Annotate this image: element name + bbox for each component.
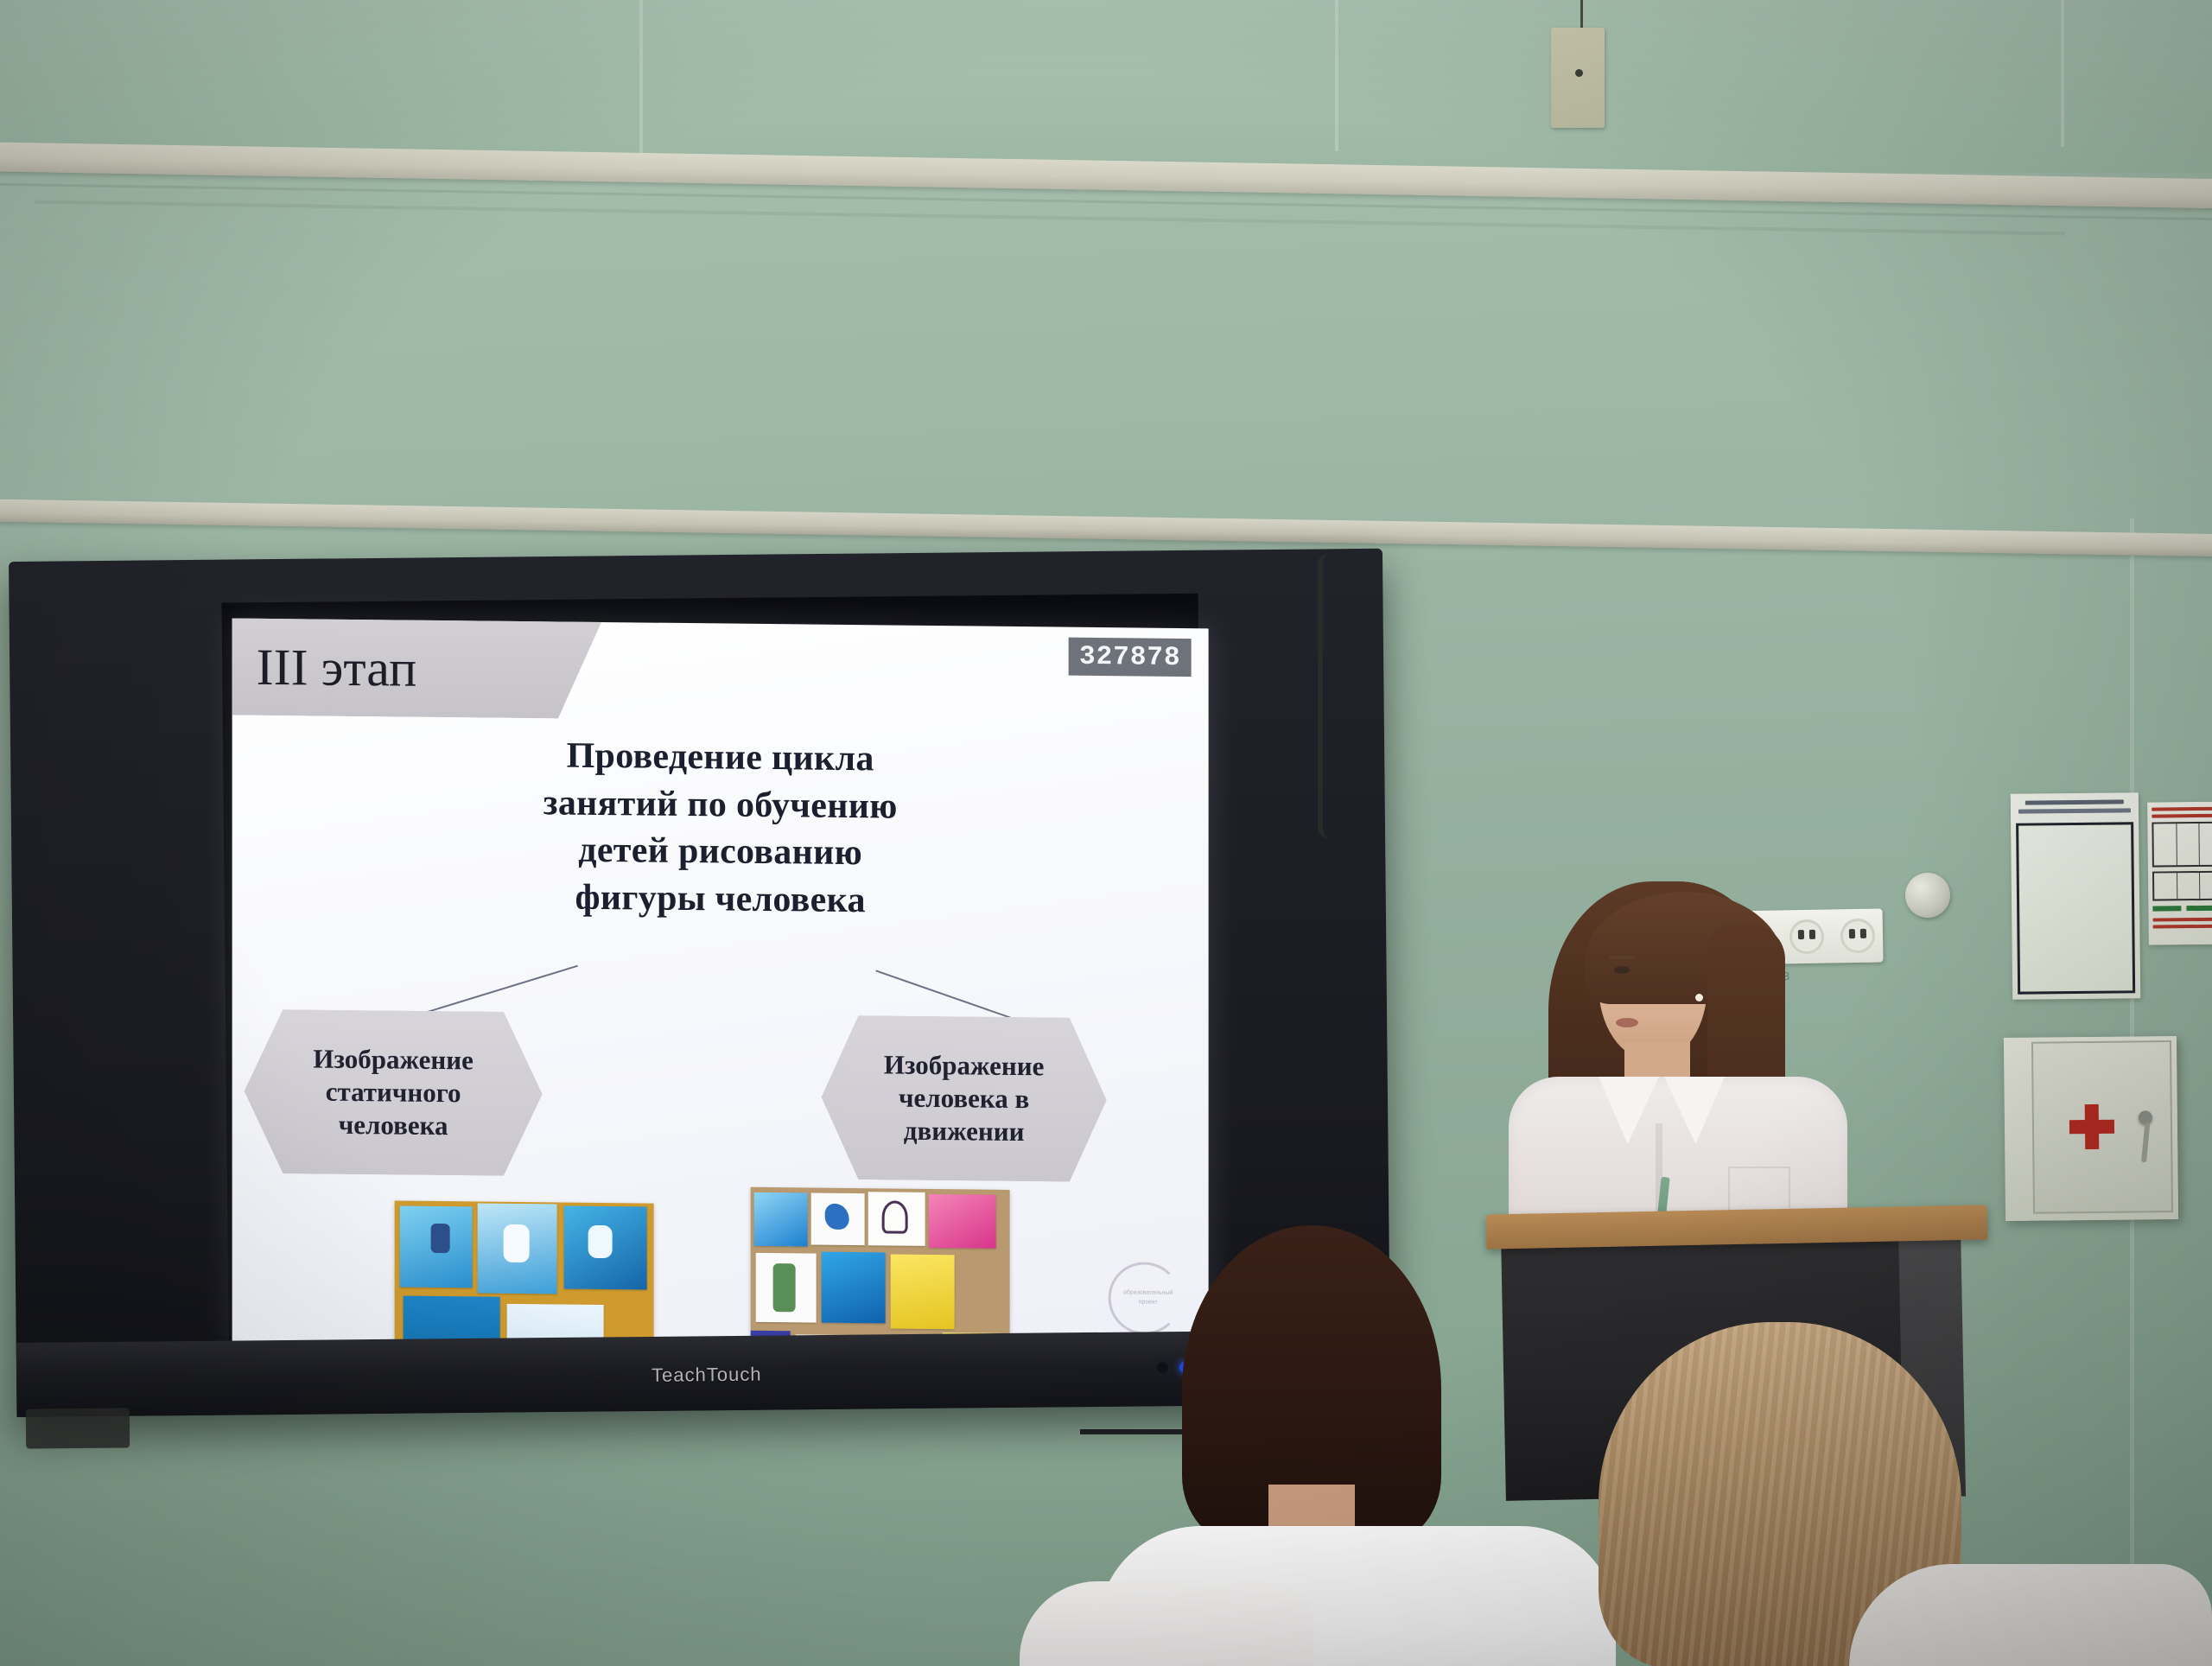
evacuation-scheme-poster xyxy=(2147,801,2212,944)
presenter-eyebrow xyxy=(1609,956,1635,959)
presenter-eye xyxy=(1614,966,1630,974)
poster-footer-bar xyxy=(2153,925,2212,929)
branch-label-motion: Изображениечеловека вдвижении xyxy=(884,1049,1044,1148)
wall-seam-vertical xyxy=(1335,0,1338,151)
hanging-tag xyxy=(1551,28,1605,128)
display-wall-bracket xyxy=(26,1408,130,1448)
first-aid-cabinet[interactable] xyxy=(2004,1036,2178,1221)
slide-body-text: Проведение цикла занятий по обучению дет… xyxy=(232,729,1209,928)
branch-hexagon-motion[interactable]: Изображениечеловека вдвижении xyxy=(822,1015,1107,1182)
poster-subtitle-bar xyxy=(2018,808,2132,813)
branch-label-static: Изображениестатичногочеловека xyxy=(313,1043,473,1142)
attendee-shoulders xyxy=(1849,1564,2212,1666)
display-brand-label: TeachTouch xyxy=(652,1364,762,1387)
slide-title: III этап xyxy=(257,638,417,699)
branch-hexagon-static[interactable]: Изображениестатичногочеловека xyxy=(245,1009,543,1177)
wall-seam-vertical xyxy=(639,0,643,164)
safety-instruction-poster xyxy=(2011,792,2140,1000)
poster-grid xyxy=(2152,821,2212,867)
poster-header-bar xyxy=(2152,814,2212,818)
display-side-cable xyxy=(1318,553,1340,838)
poster-grid xyxy=(2152,870,2212,900)
attendee-left xyxy=(1020,1581,1313,1666)
slide-body-line: фигуры человека xyxy=(232,870,1209,927)
presenter-mouth xyxy=(1616,1018,1638,1027)
presenter xyxy=(1495,873,1858,1244)
poster-header-bar xyxy=(2152,806,2212,811)
presentation-room-scene: 220В III этап 3278 xyxy=(0,0,2212,1666)
wall-seam-vertical xyxy=(2061,0,2064,147)
poster-title-bar xyxy=(2025,799,2124,804)
wall-sensor-icon xyxy=(1905,873,1950,918)
poster-legend xyxy=(2152,905,2212,911)
presenter-earring xyxy=(1695,994,1703,1002)
slide-id-badge: 327878 xyxy=(1069,638,1192,677)
poster-footer-bar xyxy=(2153,918,2212,922)
red-cross-icon xyxy=(2069,1120,2114,1135)
attendee-right xyxy=(1849,1564,2212,1666)
poster-frame xyxy=(2016,822,2135,994)
presentation-slide[interactable]: III этап 327878 Проведение цикла занятий… xyxy=(232,619,1209,1362)
